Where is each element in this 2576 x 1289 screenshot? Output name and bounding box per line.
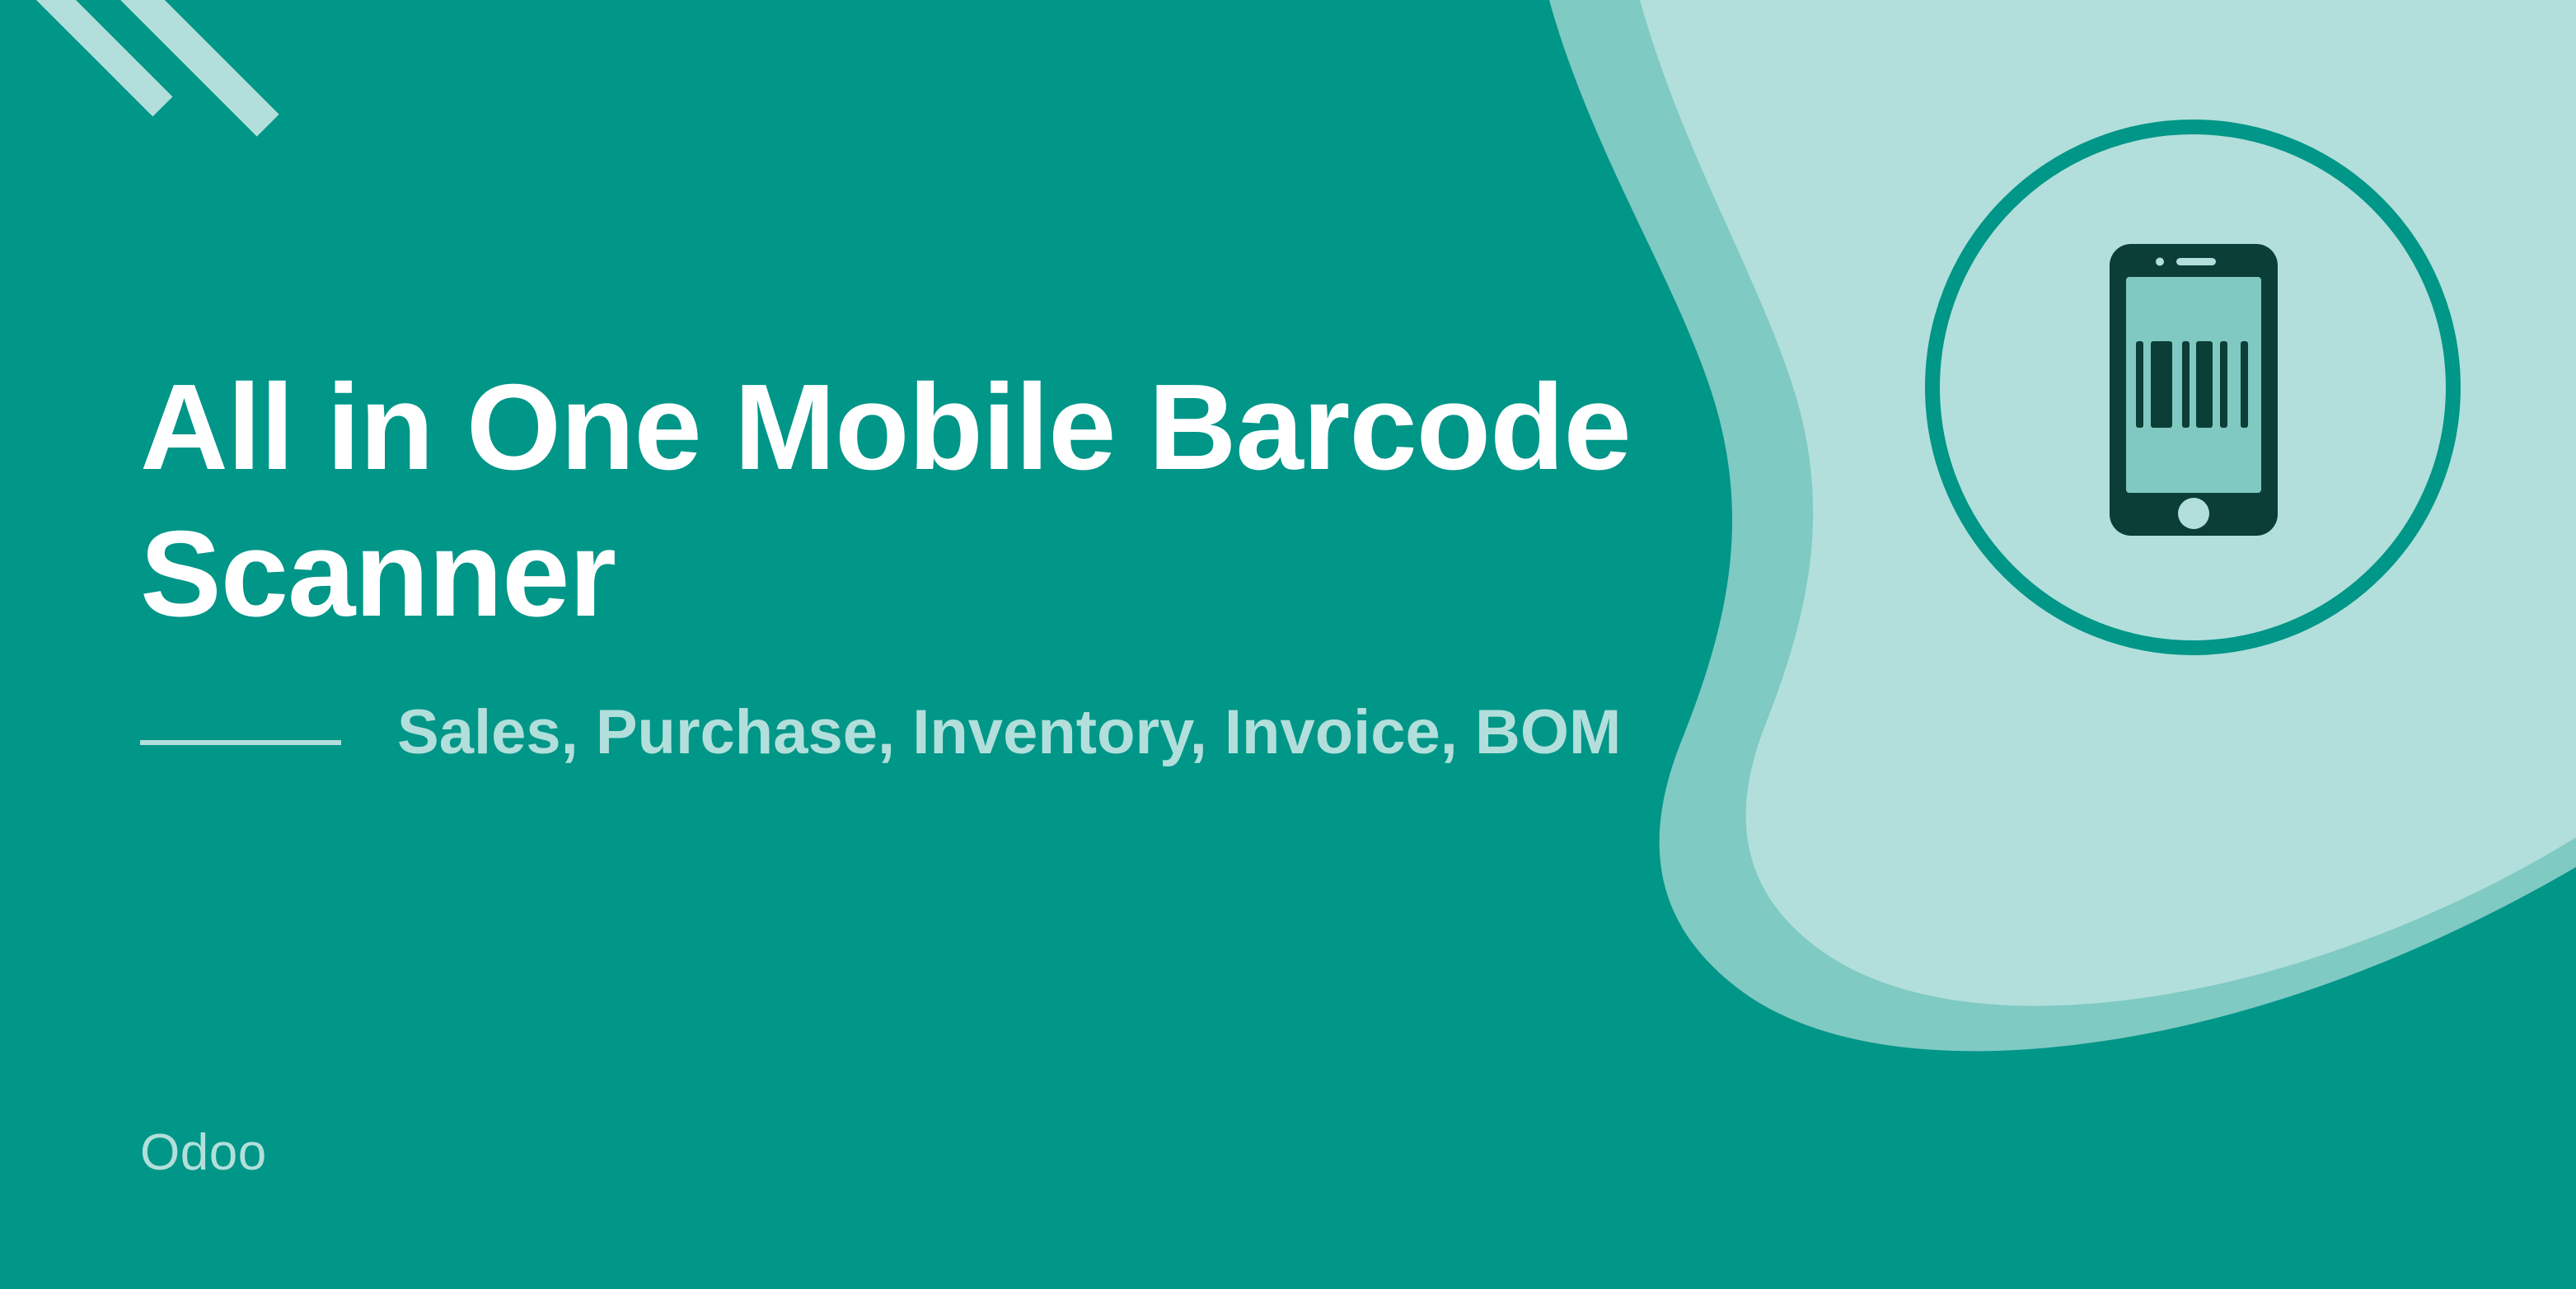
barcode-bar: [2182, 341, 2190, 428]
phone-home-button: [2178, 498, 2209, 529]
slide-canvas: All in One Mobile Barcode Scanner Sales,…: [0, 0, 2576, 1289]
barcode-bar: [2220, 341, 2227, 428]
barcode-bar: [2196, 341, 2213, 428]
subtitle-rule: [140, 740, 341, 745]
phone-speaker: [2176, 258, 2216, 265]
mobile-barcode-scanner-icon: [2110, 244, 2278, 536]
title-block: All in One Mobile Barcode Scanner Sales,…: [140, 354, 1706, 781]
subtitle-row: Sales, Purchase, Inventory, Invoice, BOM: [140, 684, 1706, 781]
subtitle: Sales, Purchase, Inventory, Invoice, BOM: [397, 684, 1706, 781]
barcode-bar: [2136, 341, 2143, 428]
barcode-bar: [2151, 341, 2172, 428]
page-title: All in One Mobile Barcode Scanner: [140, 354, 1731, 648]
phone-camera-dot: [2156, 258, 2164, 266]
brand-label: Odoo: [140, 1127, 267, 1179]
barcode-bar: [2241, 341, 2248, 428]
